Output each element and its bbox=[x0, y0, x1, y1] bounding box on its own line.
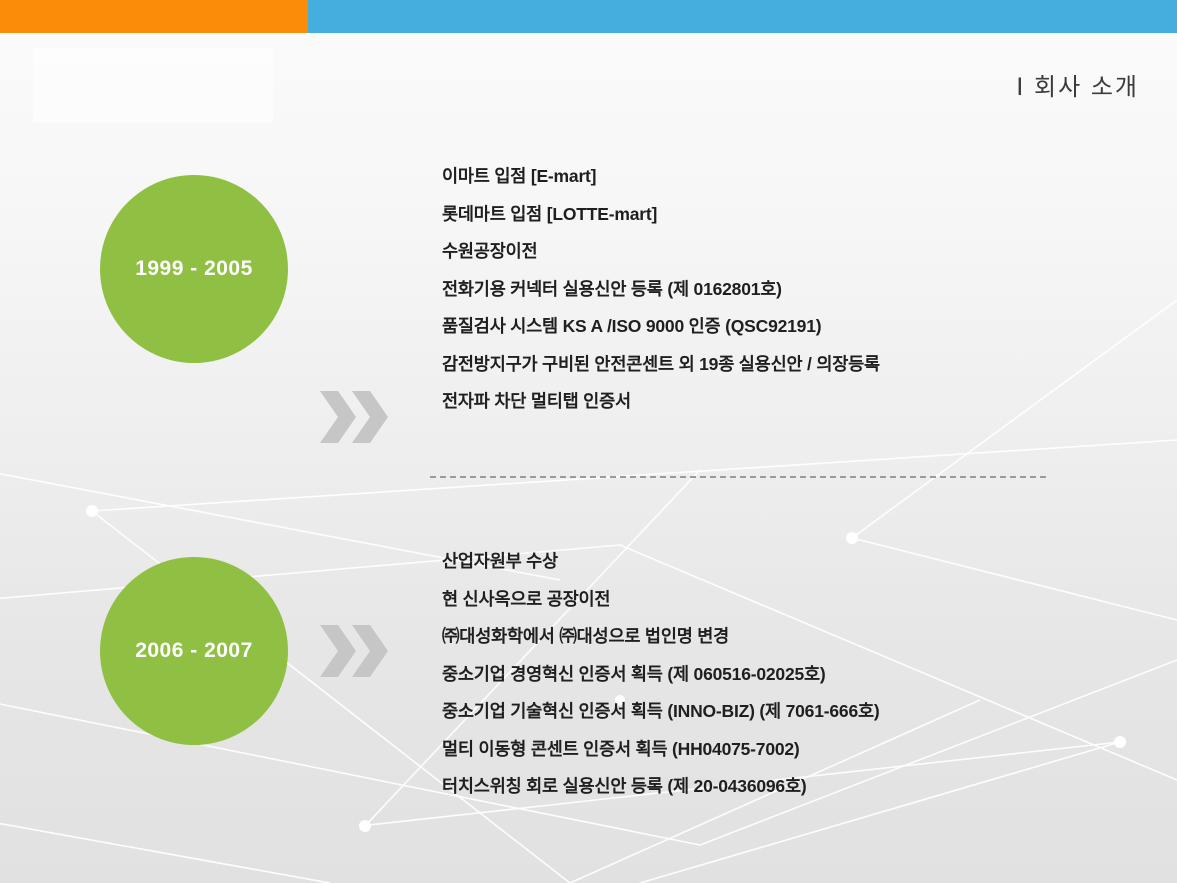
timeline-period-label: 1999 - 2005 bbox=[135, 257, 253, 281]
list-item: 현 신사옥으로 공장이전 bbox=[442, 581, 1142, 619]
list-item: 산업자원부 수상 bbox=[442, 543, 1142, 581]
timeline-item-list: 산업자원부 수상 현 신사옥으로 공장이전 ㈜대성화학에서 ㈜대성으로 법인명 … bbox=[442, 543, 1142, 806]
list-item: 터치스위칭 회로 실용신안 등록 (제 20-0436096호) bbox=[442, 768, 1142, 806]
list-item: 수원공장이전 bbox=[442, 233, 1142, 271]
list-item: 품질검사 시스템 KS A /ISO 9000 인증 (QSC92191) bbox=[442, 308, 1142, 346]
double-chevron-right-icon bbox=[318, 389, 390, 445]
timeline-period-label: 2006 - 2007 bbox=[135, 639, 253, 663]
list-item: 중소기업 경영혁신 인증서 획득 (제 060516-02025호) bbox=[442, 656, 1142, 694]
page-title: Ⅰ 회사 소개 bbox=[1016, 67, 1139, 102]
list-item: ㈜대성화학에서 ㈜대성으로 법인명 변경 bbox=[442, 618, 1142, 656]
accent-bar-blue bbox=[308, 0, 1177, 33]
timeline-period-circle[interactable]: 1999 - 2005 bbox=[100, 175, 288, 363]
timeline-item-list: 이마트 입점 [E-mart] 롯데마트 입점 [LOTTE-mart] 수원공… bbox=[442, 158, 1142, 421]
accent-bar-orange bbox=[0, 0, 308, 33]
timeline-period-circle[interactable]: 2006 - 2007 bbox=[100, 557, 288, 745]
section-divider bbox=[430, 476, 1046, 478]
double-chevron-right-icon bbox=[318, 623, 390, 679]
list-item: 전화기용 커넥터 실용신안 등록 (제 0162801호) bbox=[442, 271, 1142, 309]
list-item: 롯데마트 입점 [LOTTE-mart] bbox=[442, 196, 1142, 234]
list-item: 중소기업 기술혁신 인증서 획득 (INNO-BIZ) (제 7061-666호… bbox=[442, 693, 1142, 731]
slide-canvas: Ⅰ 회사 소개 1999 - 2005 이마트 입점 [E-mart] 롯데마트… bbox=[0, 0, 1177, 883]
list-item: 멀티 이동형 콘센트 인증서 획득 (HH04075-7002) bbox=[442, 731, 1142, 769]
company-logo bbox=[33, 48, 273, 123]
list-item: 이마트 입점 [E-mart] bbox=[442, 158, 1142, 196]
list-item: 감전방지구가 구비된 안전콘센트 외 19종 실용신안 / 의장등록 bbox=[442, 346, 1142, 384]
list-item: 전자파 차단 멀티탭 인증서 bbox=[442, 383, 1142, 421]
